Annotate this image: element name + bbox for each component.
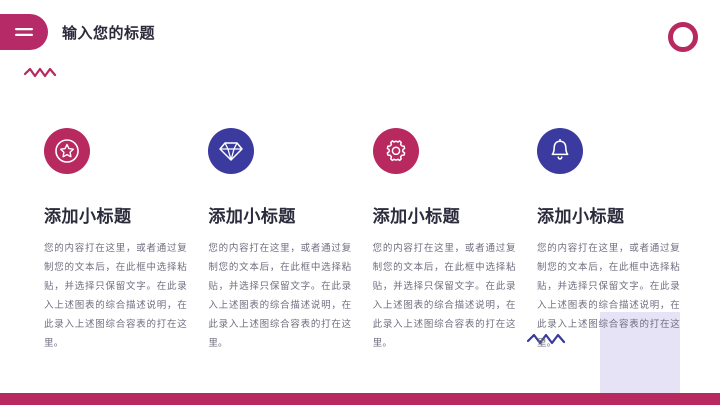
- gear-icon: [373, 128, 419, 174]
- diamond-icon: [208, 128, 254, 174]
- column-title: 添加小标题: [208, 202, 351, 227]
- equals-icon: [14, 25, 34, 39]
- ring-shape: [668, 22, 698, 52]
- bell-icon: [537, 128, 583, 174]
- column-title: 添加小标题: [373, 202, 516, 227]
- header-badge: [0, 14, 48, 50]
- column-title: 添加小标题: [44, 202, 187, 227]
- bottom-bar-shape: [0, 393, 720, 405]
- star-badge-icon: [44, 128, 90, 174]
- column-body: 您的内容打在这里，或者通过复制您的文本后，在此框中选择粘贴，并选择只保留文字。在…: [537, 239, 680, 353]
- content-columns: 添加小标题 您的内容打在这里，或者通过复制您的文本后，在此框中选择粘贴，并选择只…: [44, 128, 680, 353]
- column-2: 添加小标题 您的内容打在这里，或者通过复制您的文本后，在此框中选择粘贴，并选择只…: [208, 128, 351, 353]
- column-body: 您的内容打在这里，或者通过复制您的文本后，在此框中选择粘贴，并选择只保留文字。在…: [44, 239, 187, 353]
- column-body: 您的内容打在这里，或者通过复制您的文本后，在此框中选择粘贴，并选择只保留文字。在…: [208, 239, 351, 353]
- page-title: 输入您的标题: [62, 22, 155, 43]
- wave-shape-top: [24, 66, 64, 78]
- column-1: 添加小标题 您的内容打在这里，或者通过复制您的文本后，在此框中选择粘贴，并选择只…: [44, 128, 187, 353]
- column-3: 添加小标题 您的内容打在这里，或者通过复制您的文本后，在此框中选择粘贴，并选择只…: [373, 128, 516, 353]
- column-4: 添加小标题 您的内容打在这里，或者通过复制您的文本后，在此框中选择粘贴，并选择只…: [537, 128, 680, 353]
- slide-header: 输入您的标题: [0, 14, 415, 50]
- column-body: 您的内容打在这里，或者通过复制您的文本后，在此框中选择粘贴，并选择只保留文字。在…: [373, 239, 516, 353]
- column-title: 添加小标题: [537, 202, 680, 227]
